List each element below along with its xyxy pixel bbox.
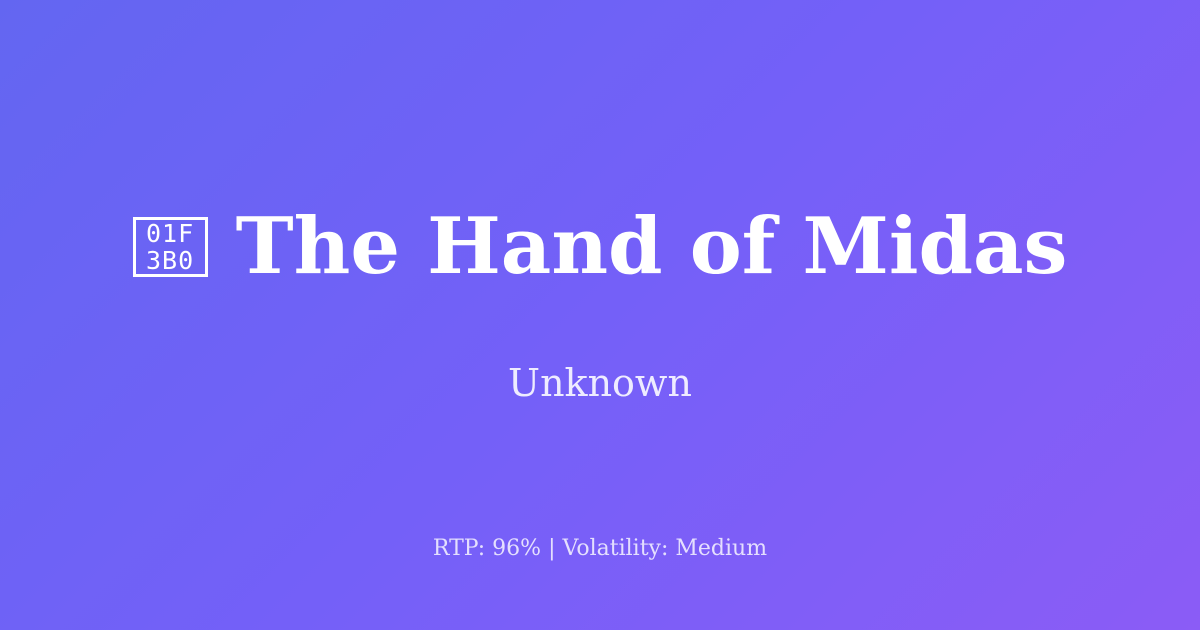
glyph-codepoint-bottom: 3B0 <box>146 248 194 273</box>
glyph-codepoint-top: 01F <box>146 221 194 246</box>
footer: RTP: 96% | Volatility: Medium <box>0 535 1200 564</box>
hero-block: 01F 3B0 The Hand of Midas Unknown <box>0 205 1200 407</box>
slot-machine-emoji-icon: 01F 3B0 <box>133 217 208 277</box>
page-subtitle: Unknown <box>508 361 692 407</box>
og-card: 01F 3B0 The Hand of Midas Unknown RTP: 9… <box>0 0 1200 630</box>
game-meta-line: RTP: 96% | Volatility: Medium <box>433 535 767 564</box>
page-title: The Hand of Midas <box>236 205 1068 289</box>
title-row: 01F 3B0 The Hand of Midas <box>0 205 1200 289</box>
